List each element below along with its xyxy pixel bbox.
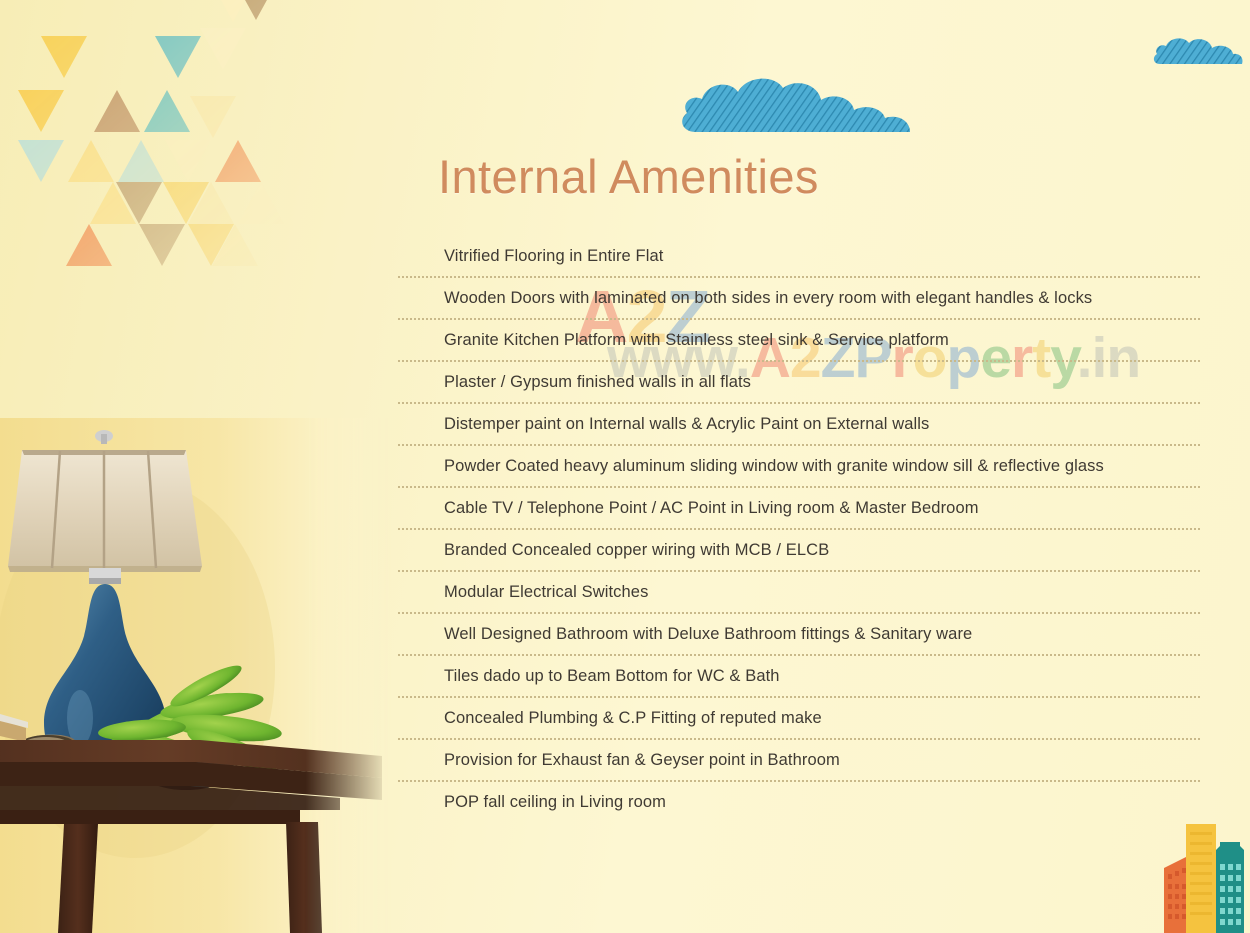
amenity-label: Tiles dado up to Beam Bottom for WC & Ba… bbox=[398, 667, 780, 686]
amenity-row: Concealed Plumbing & C.P Fitting of repu… bbox=[398, 698, 1200, 740]
amenity-label: Well Designed Bathroom with Deluxe Bathr… bbox=[398, 625, 972, 644]
amenity-label: Provision for Exhaust fan & Geyser point… bbox=[398, 751, 840, 770]
amenity-row: Cable TV / Telephone Point / AC Point in… bbox=[398, 488, 1200, 530]
interior-lamp-table-photo bbox=[0, 418, 392, 933]
amenity-row: Modular Electrical Switches bbox=[398, 572, 1200, 614]
amenity-row: Wooden Doors with laminated on both side… bbox=[398, 278, 1200, 320]
cloud-icon bbox=[1152, 36, 1244, 66]
amenities-list: Vitrified Flooring in Entire FlatWooden … bbox=[398, 236, 1200, 822]
amenity-row: Branded Concealed copper wiring with MCB… bbox=[398, 530, 1200, 572]
amenity-row: Provision for Exhaust fan & Geyser point… bbox=[398, 740, 1200, 782]
amenity-label: Wooden Doors with laminated on both side… bbox=[398, 289, 1092, 308]
amenity-row: Powder Coated heavy aluminum sliding win… bbox=[398, 446, 1200, 488]
amenity-row: Plaster / Gypsum finished walls in all f… bbox=[398, 362, 1200, 404]
amenity-label: Plaster / Gypsum finished walls in all f… bbox=[398, 373, 751, 392]
amenity-row: Distemper paint on Internal walls & Acry… bbox=[398, 404, 1200, 446]
amenity-label: Vitrified Flooring in Entire Flat bbox=[398, 247, 663, 266]
cloud-icon bbox=[676, 74, 926, 136]
amenity-row: POP fall ceiling in Living room bbox=[398, 782, 1200, 822]
amenity-label: Distemper paint on Internal walls & Acry… bbox=[398, 415, 929, 434]
city-buildings-icon bbox=[1158, 818, 1250, 933]
amenity-label: Granite Kitchen Platform with Stainless … bbox=[398, 331, 949, 350]
amenity-label: Modular Electrical Switches bbox=[398, 583, 648, 602]
amenity-label: POP fall ceiling in Living room bbox=[398, 793, 666, 812]
amenity-row: Granite Kitchen Platform with Stainless … bbox=[398, 320, 1200, 362]
amenity-label: Powder Coated heavy aluminum sliding win… bbox=[398, 457, 1104, 476]
amenity-row: Vitrified Flooring in Entire Flat bbox=[398, 236, 1200, 278]
amenity-label: Branded Concealed copper wiring with MCB… bbox=[398, 541, 829, 560]
amenity-row: Tiles dado up to Beam Bottom for WC & Ba… bbox=[398, 656, 1200, 698]
amenity-row: Well Designed Bathroom with Deluxe Bathr… bbox=[398, 614, 1200, 656]
amenity-label: Concealed Plumbing & C.P Fitting of repu… bbox=[398, 709, 822, 728]
amenity-label: Cable TV / Telephone Point / AC Point in… bbox=[398, 499, 979, 518]
slide-page: Internal Amenities A2Z www.A2ZProperty.i… bbox=[0, 0, 1250, 933]
triangle-pattern bbox=[0, 0, 300, 275]
page-title: Internal Amenities bbox=[438, 150, 819, 204]
